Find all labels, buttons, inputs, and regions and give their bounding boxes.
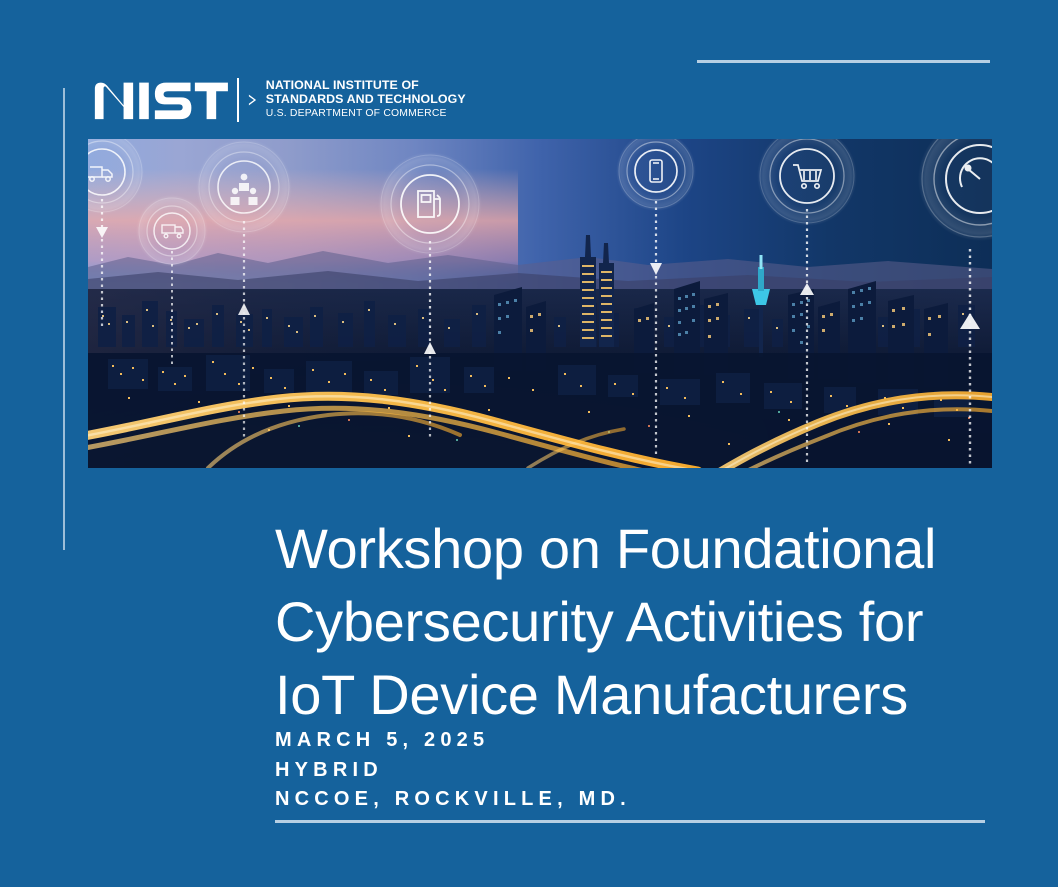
event-date: MARCH 5, 2025 xyxy=(275,726,631,756)
title-line-1: Workshop on Foundational xyxy=(275,512,990,585)
logo-divider-icon xyxy=(237,78,239,122)
title-line-2: Cybersecurity Activities for xyxy=(275,585,990,658)
left-vertical-divider xyxy=(63,88,65,550)
bottom-divider xyxy=(275,820,985,823)
page-title: Workshop on Foundational Cybersecurity A… xyxy=(275,512,990,731)
hero-image xyxy=(88,139,992,468)
event-location: NCCOE, ROCKVILLE, MD. xyxy=(275,785,631,815)
title-line-3: IoT Device Manufacturers xyxy=(275,658,990,731)
agency-line-2: STANDARDS AND TECHNOLOGY xyxy=(266,93,466,107)
agency-line-3: U.S. DEPARTMENT OF COMMERCE xyxy=(266,106,466,121)
event-format: HYBRID xyxy=(275,756,631,786)
agency-line-1: NATIONAL INSTITUTE OF xyxy=(266,79,466,93)
event-details: MARCH 5, 2025 HYBRID NCCOE, ROCKVILLE, M… xyxy=(275,726,631,815)
top-right-divider xyxy=(697,60,990,63)
nist-wordmark-icon xyxy=(94,80,229,120)
agency-name-block: NATIONAL INSTITUTE OF STANDARDS AND TECH… xyxy=(255,79,466,121)
nist-logo-lockup: NATIONAL INSTITUTE OF STANDARDS AND TECH… xyxy=(94,76,466,124)
event-poster: NATIONAL INSTITUTE OF STANDARDS AND TECH… xyxy=(0,0,1058,887)
